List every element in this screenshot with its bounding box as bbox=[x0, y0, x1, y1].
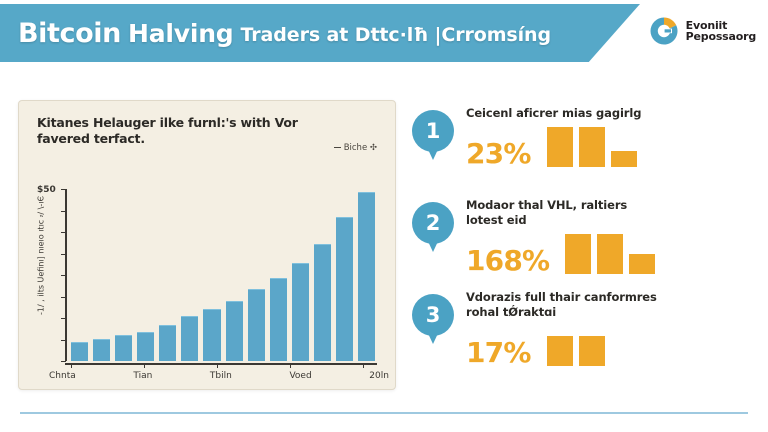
y-axis-tick bbox=[61, 232, 66, 233]
stat-description: Ceicenl aficrer mias gagirlg bbox=[466, 106, 666, 121]
header: Bitcoin Halving Traders at Dttc·lħ |Crro… bbox=[0, 0, 768, 68]
bar bbox=[203, 309, 220, 361]
stat-bottom: 23% bbox=[466, 123, 756, 169]
legend-label: Biche ✣ bbox=[344, 143, 377, 153]
y-axis-tick bbox=[61, 297, 66, 298]
map-pin-icon: 3 bbox=[412, 294, 456, 346]
bar bbox=[115, 335, 132, 361]
stat-item[interactable]: 3Vdorazis full thair canformres rohal tǾ… bbox=[412, 284, 756, 376]
logo-text-line2: Pepossaorg bbox=[686, 31, 756, 43]
legend-dash-icon bbox=[334, 147, 341, 149]
stat-rank-number: 1 bbox=[412, 110, 454, 152]
bar bbox=[292, 263, 309, 361]
mini-bar bbox=[611, 151, 637, 167]
logo-text: Evoniit Pepossaorg bbox=[686, 20, 756, 43]
stat-item[interactable]: 2Modaor thal VHL, raltiers lotest eid168… bbox=[412, 192, 756, 284]
x-axis-tick-label: 20ln bbox=[369, 371, 389, 381]
bar-series bbox=[71, 189, 375, 361]
stat-rank-number: 2 bbox=[412, 202, 454, 244]
mini-bar bbox=[629, 254, 655, 274]
bar bbox=[358, 192, 375, 361]
chart-panel: Kitanes Helauger ilke furnl:'s with Vor … bbox=[18, 100, 396, 390]
stat-bottom: 168% bbox=[466, 230, 756, 276]
y-axis-title: -1/ , ilts Uefinı] nıeıo ıtıc ⸗/ \-ıЄ bbox=[37, 196, 46, 316]
chart-legend: Biche ✣ bbox=[334, 143, 377, 153]
y-axis-tick bbox=[61, 318, 66, 319]
y-axis-tick bbox=[61, 340, 66, 341]
chart-caption: Kitanes Helauger ilke furnl:'s with Vor … bbox=[37, 115, 327, 147]
footer-divider bbox=[20, 412, 748, 414]
x-axis-tick bbox=[217, 363, 218, 368]
stat-body: Modaor thal VHL, raltiers lotest eid168% bbox=[456, 192, 756, 276]
y-axis-tick bbox=[61, 361, 66, 362]
stat-value: 17% bbox=[466, 338, 531, 368]
stat-item[interactable]: 1Ceicenl aficrer mias gagirlg23% bbox=[412, 100, 756, 192]
title-word-halving: Halving bbox=[128, 19, 234, 48]
g-circle-logo-icon bbox=[649, 16, 679, 46]
bar bbox=[226, 301, 243, 361]
stat-mini-bar-chart bbox=[547, 322, 605, 368]
mini-bar bbox=[579, 336, 605, 366]
map-pin-icon: 2 bbox=[412, 202, 456, 254]
stat-bottom: 17% bbox=[466, 322, 756, 368]
stat-mini-bar-chart bbox=[547, 123, 637, 169]
bar bbox=[181, 316, 198, 361]
y-axis-tick bbox=[61, 254, 66, 255]
bar bbox=[93, 339, 110, 361]
y-axis-tick bbox=[61, 211, 66, 212]
title-subtitle: Traders at Dttc·lħ |Crromsíng bbox=[241, 21, 551, 46]
title-word-bitcoin: Bitcoin bbox=[18, 18, 121, 49]
stat-value: 168% bbox=[466, 246, 549, 276]
x-axis-tick bbox=[144, 363, 145, 368]
x-axis-tick bbox=[71, 363, 72, 368]
y-axis-tick bbox=[61, 189, 66, 190]
x-axis-tick bbox=[363, 363, 364, 368]
brand-logo[interactable]: Evoniit Pepossaorg bbox=[649, 16, 756, 46]
x-axis-ticks bbox=[65, 363, 377, 369]
stat-description: Modaor thal VHL, raltiers lotest eid bbox=[466, 198, 666, 228]
x-axis-tick-label: Voed bbox=[289, 371, 311, 381]
x-axis-labels: ChntaTianTbilnVoed20ln bbox=[49, 371, 389, 381]
stat-body: Vdorazis full thair canformres rohal tǾr… bbox=[456, 284, 756, 368]
bar bbox=[159, 325, 176, 361]
bar bbox=[137, 332, 154, 361]
mini-bar bbox=[547, 336, 573, 366]
bar bbox=[248, 289, 265, 361]
bar bbox=[336, 217, 353, 361]
stat-mini-bar-chart bbox=[565, 230, 655, 276]
x-axis-tick-label: Tbiln bbox=[210, 371, 232, 381]
stat-rank-number: 3 bbox=[412, 294, 454, 336]
x-axis-tick bbox=[290, 363, 291, 368]
mini-bar bbox=[565, 234, 591, 274]
mini-bar bbox=[547, 127, 573, 167]
bar bbox=[71, 342, 88, 361]
y-axis-top-tick-label: $50 bbox=[37, 185, 56, 195]
page-title: Bitcoin Halving Traders at Dttc·lħ |Crro… bbox=[18, 12, 598, 54]
plot-area bbox=[65, 189, 377, 361]
mini-bar bbox=[579, 127, 605, 167]
stat-body: Ceicenl aficrer mias gagirlg23% bbox=[456, 100, 756, 169]
bar bbox=[314, 244, 331, 361]
stat-description: Vdorazis full thair canformres rohal tǾr… bbox=[466, 290, 666, 320]
x-axis-tick-label: Tian bbox=[133, 371, 152, 381]
mini-bar bbox=[597, 234, 623, 274]
map-pin-icon: 1 bbox=[412, 110, 456, 162]
stat-value: 23% bbox=[466, 139, 531, 169]
stats-list: 1Ceicenl aficrer mias gagirlg23%2Modaor … bbox=[412, 100, 756, 392]
x-axis-tick-label: Chnta bbox=[49, 371, 76, 381]
bar bbox=[270, 278, 287, 361]
y-axis-tick bbox=[61, 275, 66, 276]
